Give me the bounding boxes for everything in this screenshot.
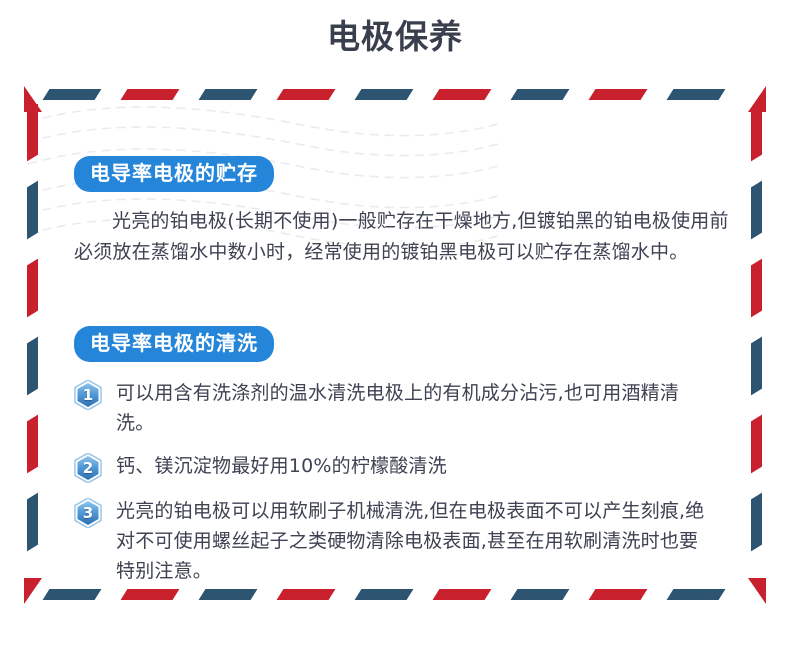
step-number: 2 bbox=[74, 453, 102, 483]
section-badge-storage: 电导率电极的贮存 bbox=[74, 156, 274, 192]
hexagon-number-icon: 3 bbox=[74, 498, 102, 528]
corner-wedge-bottom-right bbox=[740, 578, 766, 604]
storage-paragraph: 光亮的铂电极(长期不使用)一般贮存在干燥地方,但镀铂黑的铂电极使用前必须放在蒸馏… bbox=[74, 206, 734, 268]
step-number: 3 bbox=[74, 498, 102, 528]
hexagon-number-icon: 1 bbox=[74, 380, 102, 410]
hexagon-number-icon: 2 bbox=[74, 453, 102, 483]
card-content: 电导率电极的贮存 光亮的铂电极(长期不使用)一般贮存在干燥地方,但镀铂黑的铂电极… bbox=[50, 112, 740, 578]
corner-wedge-bottom-left bbox=[24, 578, 50, 604]
border-rail-right bbox=[748, 104, 766, 586]
step-text: 光亮的铂电极可以用软刷子机械清洗,但在电极表面不可以产生刻痕,绝对不可使用螺丝起… bbox=[116, 496, 716, 586]
step-text: 钙、镁沉淀物最好用10%的柠檬酸清洗 bbox=[116, 451, 716, 481]
corner-wedge-top-left bbox=[24, 86, 50, 112]
airmail-card: 电导率电极的贮存 光亮的铂电极(长期不使用)一般贮存在干燥地方,但镀铂黑的铂电极… bbox=[24, 86, 766, 604]
corner-wedge-top-right bbox=[740, 86, 766, 112]
section-storage: 电导率电极的贮存 光亮的铂电极(长期不使用)一般贮存在干燥地方,但镀铂黑的铂电极… bbox=[74, 156, 716, 268]
step-text: 可以用含有洗涤剂的温水清洗电极上的有机成分沾污,也可用酒精清洗。 bbox=[116, 378, 716, 438]
border-rail-bottom bbox=[42, 586, 748, 604]
section-cleaning: 电导率电极的清洗 bbox=[74, 326, 716, 586]
list-item: 1 可以用含有洗涤剂的温水清洗电极上的有机成分沾污,也可用酒精清洗。 bbox=[74, 378, 716, 438]
list-item: 2 钙、镁沉淀物最好用10%的柠檬酸清洗 bbox=[74, 451, 716, 483]
border-rail-left bbox=[24, 104, 42, 586]
section-badge-cleaning: 电导率电极的清洗 bbox=[74, 326, 274, 362]
cleaning-steps-list: 1 可以用含有洗涤剂的温水清洗电极上的有机成分沾污,也可用酒精清洗。 2 钙、镁… bbox=[74, 378, 716, 586]
border-rail-top bbox=[42, 86, 748, 104]
list-item: 3 光亮的铂电极可以用软刷子机械清洗,但在电极表面不可以产生刻痕,绝对不可使用螺… bbox=[74, 496, 716, 586]
step-number: 1 bbox=[74, 380, 102, 410]
page-title: 电极保养 bbox=[0, 0, 790, 59]
